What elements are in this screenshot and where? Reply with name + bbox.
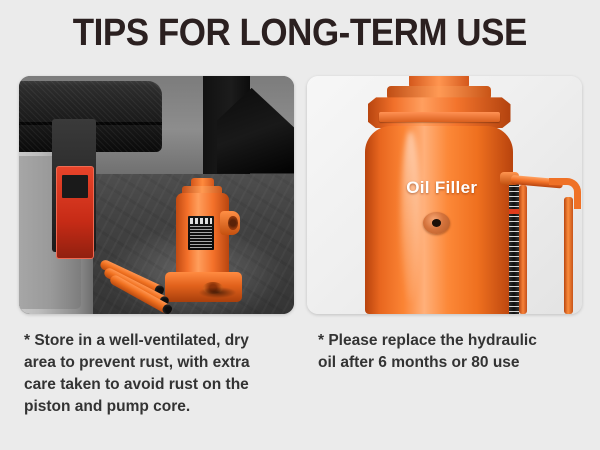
captions-row: * Store in a well-ventilated, dry area t… [0, 330, 600, 450]
oil-filler-overlay-label: Oil Filler [379, 178, 506, 198]
storage-caption: * Store in a well-ventilated, dry area t… [24, 330, 304, 418]
toolbox-latch-red [56, 166, 94, 258]
jack-floor-shadow [199, 287, 236, 298]
jack-closeup-image: Oil Filler [307, 76, 582, 314]
vevor-brand-mark [190, 218, 212, 223]
body-highlight [401, 131, 420, 302]
jack-cap-ridge [379, 112, 500, 123]
handle-inner-leg [519, 185, 527, 314]
handle-tubes-group [99, 247, 193, 309]
garage-scene-image [19, 76, 294, 314]
handle-outer-leg [564, 197, 573, 314]
spec-text-lines [190, 226, 212, 249]
oil-filler-port [423, 212, 451, 235]
jack-spec-label [188, 216, 214, 250]
oil-filler-photo-panel: Oil Filler [307, 76, 582, 314]
pump-handle-socket [220, 211, 240, 236]
photo-panels-row: Oil Filler [0, 76, 600, 314]
storage-photo-panel [19, 76, 294, 314]
measuring-scale-strip [509, 176, 519, 314]
scale-red-marker [509, 209, 519, 214]
oil-change-caption: * Please replace the hydraulic oil after… [318, 330, 594, 374]
page-title: TIPS FOR LONG-TERM USE [73, 12, 527, 55]
header-bar: TIPS FOR LONG-TERM USE [0, 0, 600, 66]
